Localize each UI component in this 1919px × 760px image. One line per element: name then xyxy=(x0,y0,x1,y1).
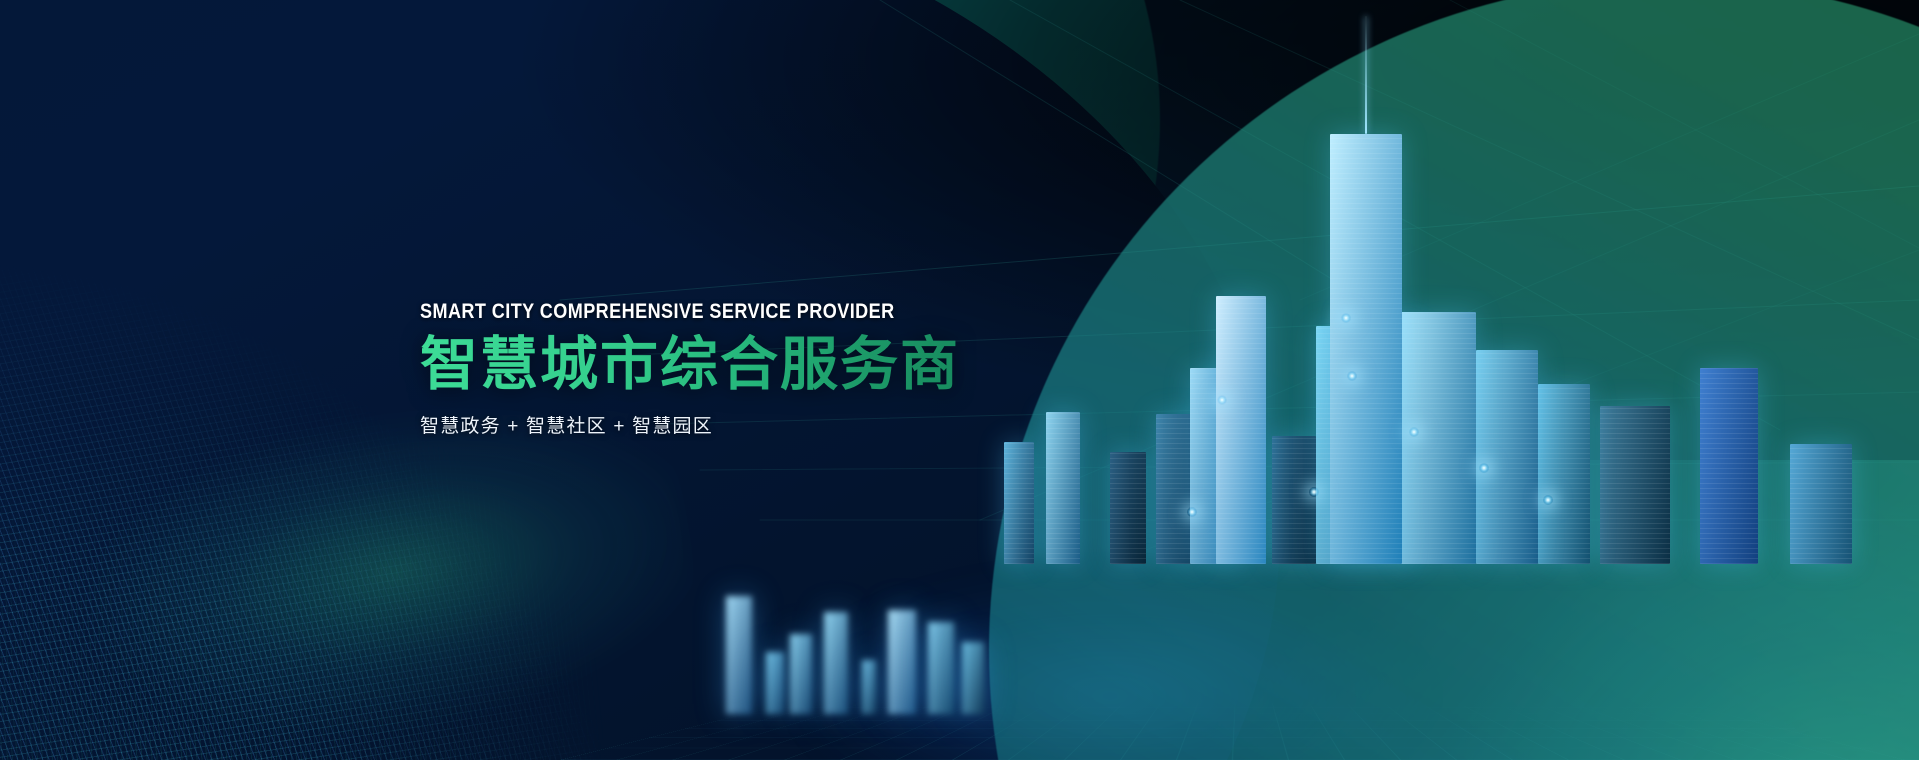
building-tower-right-c xyxy=(1538,384,1590,564)
foreground-slab-g xyxy=(928,622,954,714)
spark-tower-top xyxy=(1341,313,1351,323)
building-block-mid-dark-a xyxy=(1272,436,1316,564)
spark-right-b xyxy=(1479,463,1489,473)
building-slab-edge-right xyxy=(1790,444,1852,564)
hero-eyebrow: SMART CITY COMPREHENSIVE SERVICE PROVIDE… xyxy=(420,300,895,324)
building-tower-center-spire xyxy=(1330,134,1402,564)
spark-center-low xyxy=(1309,487,1319,497)
spark-left-low xyxy=(1187,507,1197,517)
tower-antenna-spire xyxy=(1365,16,1367,134)
spark-left-tall xyxy=(1217,395,1227,405)
foreground-slab-f xyxy=(888,610,916,714)
spark-tower-mid xyxy=(1347,371,1357,381)
building-block-low-left xyxy=(1004,442,1034,564)
foreground-slab-d xyxy=(824,612,848,714)
foreground-slab-h xyxy=(962,642,984,714)
hero-headline: 智慧城市综合服务商 xyxy=(420,334,972,395)
building-tower-right-round xyxy=(1600,406,1670,564)
hero-banner: SMART CITY COMPREHENSIVE SERVICE PROVIDE… xyxy=(0,0,1919,760)
building-tower-left-tall xyxy=(1216,296,1266,564)
foreground-slab-c xyxy=(790,634,812,714)
building-block-mid-dark-b xyxy=(1110,452,1146,564)
foreground-slab-a xyxy=(726,596,752,714)
hero-subline: 智慧政务 + 智慧社区 + 智慧园区 xyxy=(420,411,972,438)
building-slab-far-right xyxy=(1700,368,1758,564)
building-block-low-center xyxy=(1046,412,1080,564)
building-tower-right-b xyxy=(1476,350,1538,564)
foreground-slab-b xyxy=(766,652,784,714)
building-tower-right-a xyxy=(1400,312,1476,564)
spark-right-c xyxy=(1543,495,1553,505)
foreground-slab-e xyxy=(862,660,876,714)
spark-right-a xyxy=(1409,427,1419,437)
hero-copy: SMART CITY COMPREHENSIVE SERVICE PROVIDE… xyxy=(420,300,972,438)
